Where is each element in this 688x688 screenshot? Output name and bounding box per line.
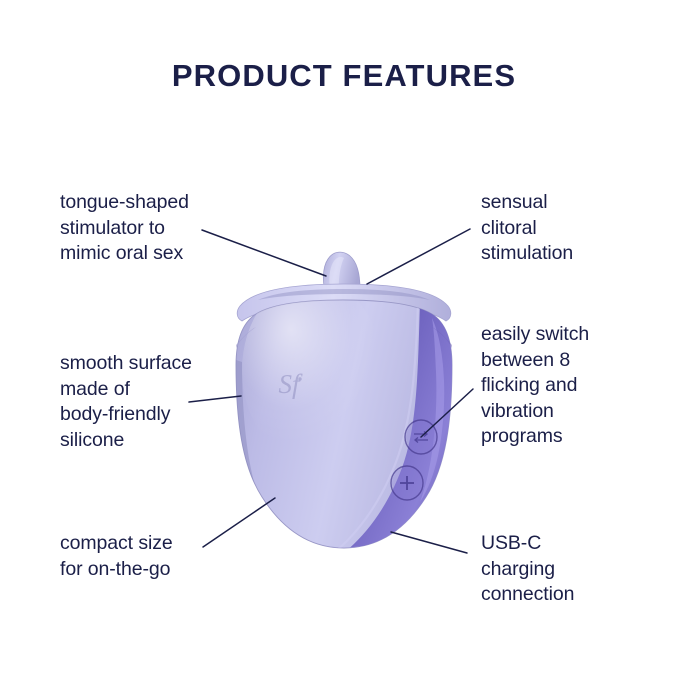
callout-usb-c-charging: USB-C charging connection	[481, 531, 671, 608]
plus-button[interactable]	[391, 466, 423, 500]
program-cycle-button[interactable]	[405, 420, 437, 454]
callout-sensual-clitoral-stimulation: sensual clitoral stimulation	[481, 190, 671, 267]
callout-easily-switch-programs: easily switch between 8 flicking and vib…	[481, 322, 671, 450]
product-body	[236, 278, 462, 556]
callout-smooth-surface: smooth surface made of body-friendly sil…	[60, 351, 260, 453]
callout-tongue-shaped-stimulator: tongue-shaped stimulator to mimic oral s…	[60, 190, 275, 267]
svg-text:Sf: Sf	[278, 369, 303, 399]
callout-compact-size: compact size for on-the-go	[60, 531, 265, 582]
brand-logo: Sf	[278, 369, 303, 399]
product-features-infographic: PRODUCT FEATURES	[0, 0, 688, 688]
